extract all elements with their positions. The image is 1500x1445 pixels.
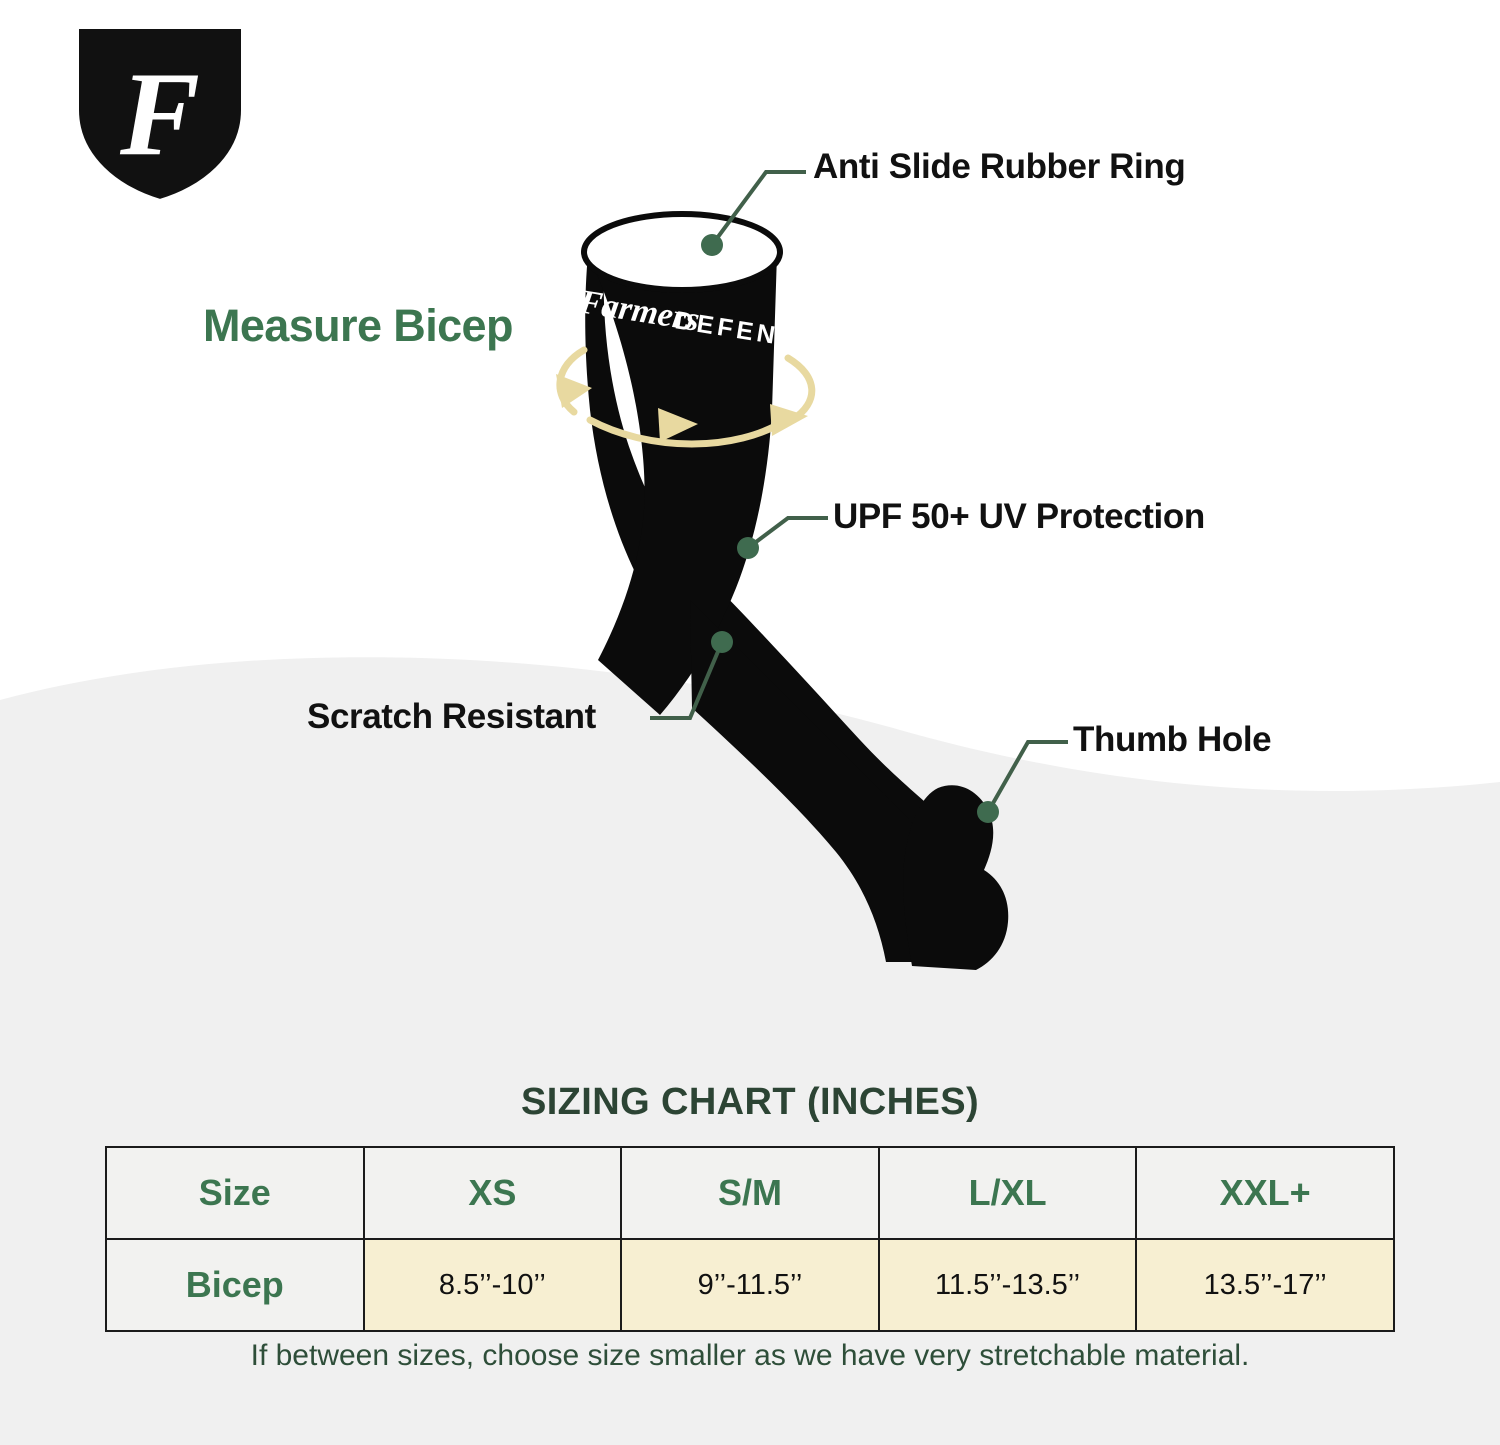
callout-label-scratch-resistant: Scratch Resistant — [307, 697, 596, 737]
cell-bicep-xxl: 13.5’’-17’’ — [1136, 1239, 1394, 1331]
header-cell-xs: XS — [364, 1147, 622, 1239]
table-header-row: Size XS S/M L/XL XXL+ — [106, 1147, 1394, 1239]
callout-label-thumb-hole: Thumb Hole — [1073, 720, 1271, 760]
header-cell-xxl: XXL+ — [1136, 1147, 1394, 1239]
cell-bicep-sm: 9’’-11.5’’ — [621, 1239, 879, 1331]
product-infographic: F Farmers DEFENSE — [0, 0, 1500, 1445]
callout-label-upf-protection: UPF 50+ UV Protection — [833, 497, 1205, 537]
arm-sleeve-illustration: Farmers DEFENSE — [540, 180, 1100, 980]
measure-bicep-label: Measure Bicep — [203, 300, 513, 352]
table-row: Bicep 8.5’’-10’’ 9’’-11.5’’ 11.5’’-13.5’… — [106, 1239, 1394, 1331]
sizing-footnote: If between sizes, choose size smaller as… — [0, 1339, 1500, 1373]
cell-bicep-lxl: 11.5’’-13.5’’ — [879, 1239, 1137, 1331]
shield-logo: F — [62, 18, 258, 208]
sizing-chart-table: Size XS S/M L/XL XXL+ Bicep 8.5’’-10’’ 9… — [105, 1146, 1395, 1332]
header-cell-size: Size — [106, 1147, 364, 1239]
logo-letter: F — [119, 47, 200, 180]
callout-label-anti-slide-rubber-ring: Anti Slide Rubber Ring — [813, 147, 1185, 187]
sizing-chart-title: SIZING CHART (INCHES) — [0, 1081, 1500, 1124]
cell-bicep-xs: 8.5’’-10’’ — [364, 1239, 622, 1331]
row-label-bicep: Bicep — [106, 1239, 364, 1331]
header-cell-lxl: L/XL — [879, 1147, 1137, 1239]
header-cell-sm: S/M — [621, 1147, 879, 1239]
